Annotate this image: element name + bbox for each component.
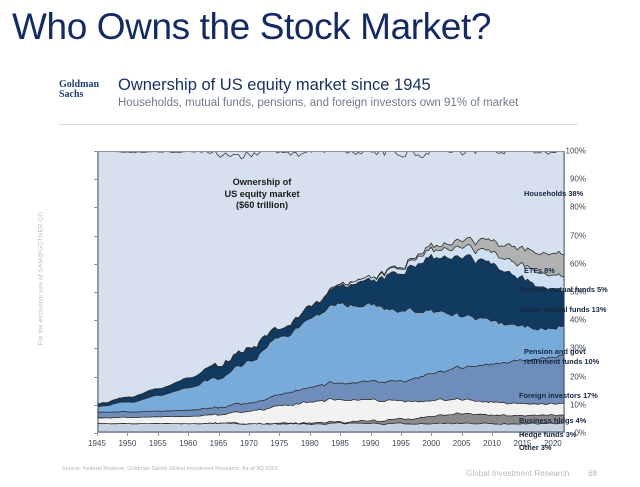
x-axis-tick-label: 1970 [240,439,258,448]
x-axis-tick-label: 1975 [270,439,288,448]
x-axis: 1945195019551960196519701975198019851990… [97,433,565,451]
y-axis-tick [94,377,97,378]
x-axis-tick-label: 2010 [483,439,501,448]
y-axis-tick [94,320,97,321]
x-axis-tick [219,433,220,436]
series-label-6: Business hldgs 4% [519,416,586,426]
source-note: Source: Federal Reserve, Goldman Sachs G… [62,466,279,472]
series-label-8: Other 3% [519,443,551,453]
x-axis-tick-label: 1965 [210,439,228,448]
y-axis-tick [94,348,97,349]
x-axis-tick [492,433,493,436]
x-axis-tick-label: 1950 [118,439,136,448]
chart-subtitle: Households, mutual funds, pensions, and … [118,97,518,109]
page-title: Who Owns the Stock Market? [12,6,491,48]
x-axis-tick-label: 1985 [331,439,349,448]
exclusive-use-watermark: For the exclusive use of SAM@GOTNER.CO [38,189,45,369]
y-axis-tick [94,151,97,152]
y-axis-tick [94,207,97,208]
footer-label: Global Investment Research [466,469,569,478]
chart-annotation: Ownership of US equity market ($60 trill… [187,177,337,212]
y-axis-tick [94,405,97,406]
x-axis-tick [431,433,432,436]
header-divider [59,124,578,125]
x-axis-tick [249,433,250,436]
stacked-area-chart: 1945195019551960196519701975198019851990… [56,140,586,452]
x-axis-tick [462,433,463,436]
series-label-2: Passive mutual funds 5% [519,285,608,295]
x-axis-tick-label: 1995 [392,439,410,448]
y-axis-tick [94,433,97,434]
logo-line-2: Sachs [59,90,111,100]
x-axis-tick-label: 1955 [149,439,167,448]
y-axis-tick [94,264,97,265]
y-axis-tick [94,292,97,293]
series-label-line-2: retirement funds 10% [524,357,599,367]
x-axis-tick [371,433,372,436]
annotation-line-3: ($60 trillion) [187,200,337,212]
series-label-5: Foreign investors 17% [519,391,598,401]
x-axis-tick [97,433,98,436]
x-axis-tick [279,433,280,436]
goldman-sachs-logo: Goldman Sachs [59,80,111,99]
x-axis-tick [401,433,402,436]
x-axis-tick-label: 1960 [179,439,197,448]
slide-canvas: Who Owns the Stock Market? Goldman Sachs… [0,0,640,487]
chart-title: Ownership of US equity market since 1945 [118,76,431,95]
annotation-line-2: US equity market [187,189,337,201]
x-axis-tick-label: 1980 [301,439,319,448]
x-axis-tick [127,433,128,436]
annotation-line-1: Ownership of [187,177,337,189]
series-label-7: Hedge funds 3% [519,430,577,440]
y-axis [56,151,94,433]
y-axis-tick [94,179,97,180]
x-axis-tick [340,433,341,436]
series-label-1: ETFs 8% [524,266,555,276]
x-axis-tick-label: 1945 [88,439,106,448]
series-label-line-1: Pension and govt [524,347,599,357]
x-axis-tick [158,433,159,436]
series-label-0: Households 38% [524,189,583,199]
x-axis-tick-label: 2000 [422,439,440,448]
y-axis-tick [94,236,97,237]
x-axis-tick [188,433,189,436]
series-label-3: Active mutual funds 13% [519,305,606,315]
series-label-4: Pension and govtretirement funds 10% [524,347,599,366]
page-number: 68 [588,469,597,478]
x-axis-tick-label: 1990 [362,439,380,448]
series-labels: Households 38%ETFs 8%Passive mutual fund… [515,140,640,452]
x-axis-tick-label: 2005 [453,439,471,448]
x-axis-tick [310,433,311,436]
